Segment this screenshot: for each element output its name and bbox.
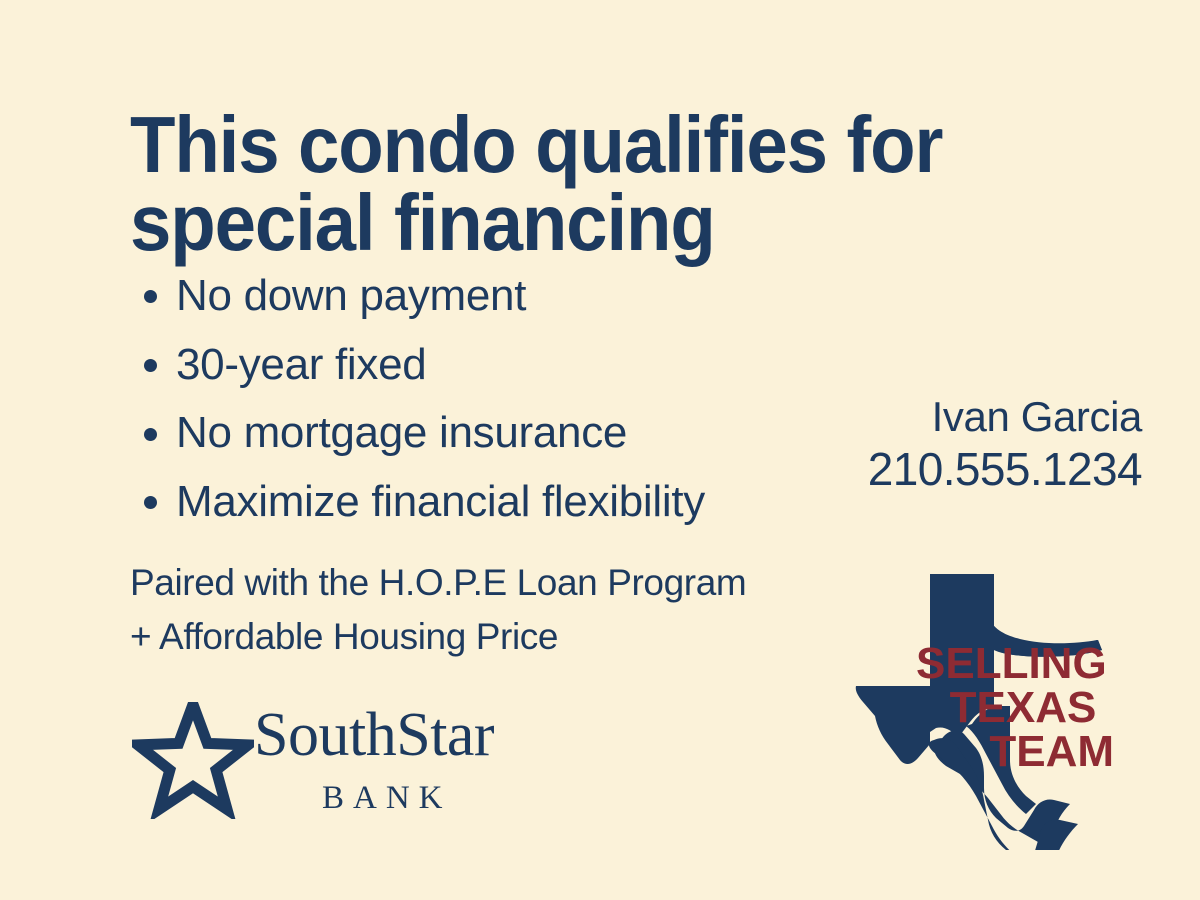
agent-contact-block: Ivan Garcia 210.555.1234 [868, 392, 1142, 496]
program-note-line-1: Paired with the H.O.P.E Loan Program [130, 556, 890, 610]
star-outline-icon [132, 702, 254, 820]
list-item: No down payment [140, 262, 860, 331]
headline-line-2: special financing [130, 184, 967, 262]
southstar-bank-logo: SouthStar BANK [132, 696, 532, 826]
bullet-dot-icon [144, 359, 157, 372]
texas-logo-line-2: TEXAS [916, 686, 1116, 730]
benefit-label: Maximize financial flexibility [176, 477, 705, 526]
agent-phone[interactable]: 210.555.1234 [868, 442, 1142, 496]
program-note-line-2: + Affordable Housing Price [130, 610, 890, 664]
benefits-list: No down payment 30-year fixed No mortgag… [140, 262, 860, 537]
selling-texas-team-logo: SELLING TEXAS TEAM [848, 560, 1118, 850]
benefit-label: 30-year fixed [176, 340, 426, 389]
texas-logo-text: SELLING TEXAS TEAM [916, 642, 1116, 774]
texas-logo-line-3: TEAM [916, 730, 1116, 774]
bank-subtitle: BANK [322, 780, 452, 817]
program-note: Paired with the H.O.P.E Loan Program + A… [130, 556, 890, 665]
list-item: 30-year fixed [140, 331, 860, 400]
list-item: No mortgage insurance [140, 399, 860, 468]
list-item: Maximize financial flexibility [140, 468, 860, 537]
texas-logo-line-1: SELLING [916, 642, 1116, 686]
bullet-dot-icon [144, 496, 157, 509]
bank-name: SouthStar [254, 704, 494, 766]
bullet-dot-icon [144, 290, 157, 303]
agent-name: Ivan Garcia [868, 392, 1142, 442]
benefit-label: No down payment [176, 271, 526, 320]
headline-line-1: This condo qualifies for [130, 106, 967, 184]
bank-wordmark: SouthStar BANK [254, 696, 534, 826]
bullet-dot-icon [144, 428, 157, 441]
flyer-canvas: This condo qualifies for special financi… [0, 0, 1200, 900]
page-title: This condo qualifies for special financi… [130, 106, 967, 263]
benefit-label: No mortgage insurance [176, 408, 627, 457]
